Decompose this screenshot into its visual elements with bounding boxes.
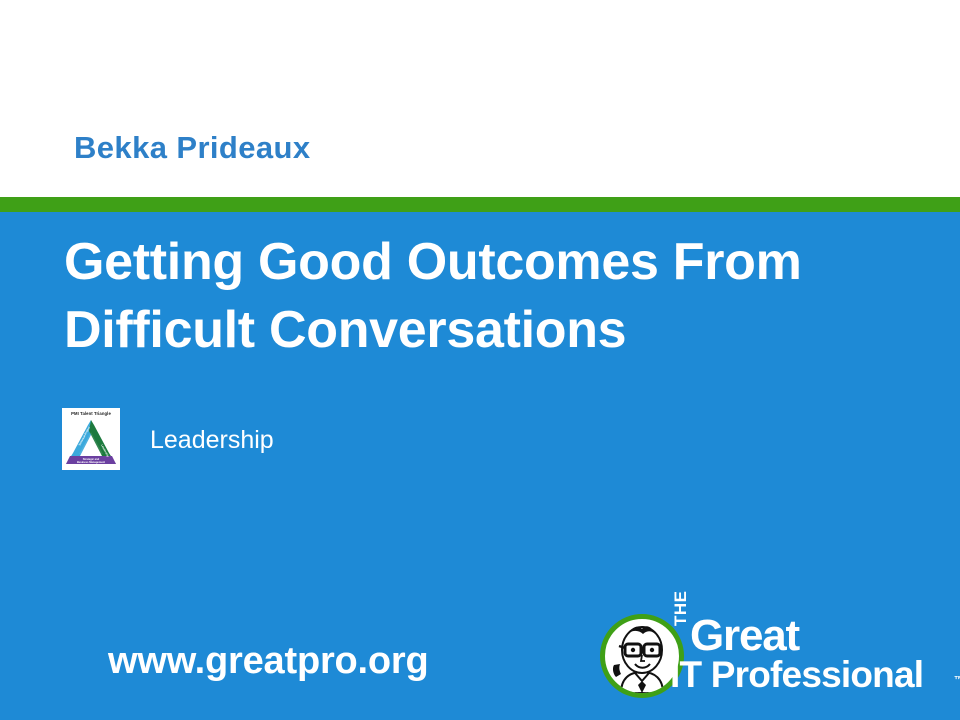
logo-word-it-professional: IT Professional [670,656,923,694]
presenter-band: Bekka Prideaux [0,0,960,197]
logo-word-great: Great [690,614,799,658]
logo-trademark-symbol: ™ [954,676,960,686]
title-slide: Bekka Prideaux Getting Good Outcomes Fro… [0,0,960,720]
logo-word-the: THE [672,591,689,627]
pmi-talent-triangle-badge: PMI Talent Triangle Technical Project Le… [62,408,120,470]
green-divider-rule [0,197,960,212]
page-title: Getting Good Outcomes From Difficult Con… [64,228,884,364]
svg-text:Business Management: Business Management [77,460,105,464]
pmi-triangle-icon: Technical Project Leadership Strategic a… [64,418,118,466]
website-url[interactable]: www.greatpro.org [108,637,429,685]
pmi-badge-caption: PMI Talent Triangle [64,411,118,417]
logo-wordmark: THE Great IT Professional ™ [670,612,896,704]
category-label: Leadership [150,423,274,457]
brand-logo: THE Great IT Professional ™ [600,612,896,704]
presenter-name: Bekka Prideaux [74,128,311,168]
